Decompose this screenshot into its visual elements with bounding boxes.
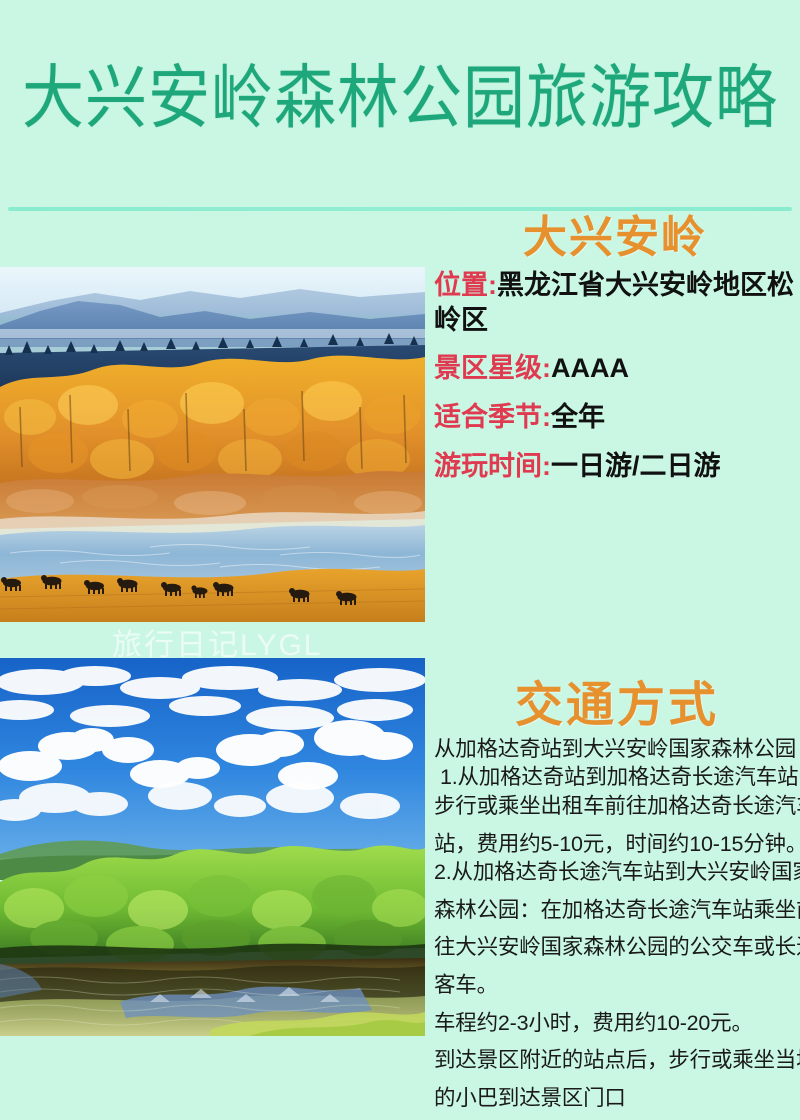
transport-line-3: 站，费用约5-10元，时间约10-15分钟。 xyxy=(434,830,800,859)
fact-duration-label: 游玩时间: xyxy=(434,451,551,481)
fact-star-rating-value: AAAA xyxy=(551,353,629,383)
transport-line-6: 往大兴安岭国家森林公园的公交车或长途 xyxy=(434,933,800,962)
transport-line-9: 到达景区附近的站点后，步行或乘坐当地 xyxy=(434,1046,800,1075)
fact-season: 适合季节:全年 xyxy=(434,400,796,435)
transport-info-column: 交通方式 从加格达奇站到大兴安岭国家森林公园 1.从加格达奇站到加格达奇长途汽车… xyxy=(434,664,800,1112)
transport-line-8: 车程约2-3小时，费用约10-20元。 xyxy=(434,1009,800,1038)
fact-location-label: 位置: xyxy=(434,270,497,300)
heading-destination: 大兴安岭 xyxy=(434,214,796,262)
photo-autumn-forest-river-cattle xyxy=(0,267,425,622)
transport-line-1: 1.从加格达奇站到加格达奇长途汽车站: xyxy=(434,763,800,792)
travel-guide-poster: 大兴安岭森林公园旅游攻略 xyxy=(0,0,800,1120)
page-title: 大兴安岭森林公园旅游攻略 xyxy=(22,64,778,137)
transport-intro: 从加格达奇站到大兴安岭国家森林公园 xyxy=(434,735,800,764)
transport-line-4: 2.从加格达奇长途汽车站到大兴安岭国家 xyxy=(434,858,800,887)
transport-line-10: 的小巴到达景区门口 xyxy=(434,1084,800,1113)
fact-location: 位置:黑龙江省大兴安岭地区松岭区 xyxy=(434,268,796,337)
fact-season-label: 适合季节: xyxy=(434,402,551,432)
heading-transport: 交通方式 xyxy=(434,680,800,733)
fact-duration-value: 一日游/二日游 xyxy=(551,451,721,481)
fact-star-rating: 景区星级:AAAA xyxy=(434,351,796,386)
fact-star-rating-label: 景区星级: xyxy=(434,353,551,383)
bottom-spacer xyxy=(0,1036,425,1120)
fact-season-value: 全年 xyxy=(551,402,605,432)
poster-title-band: 大兴安岭森林公园旅游攻略 xyxy=(0,0,800,200)
transport-line-5: 森林公园：在加格达奇长途汽车站乘坐前 xyxy=(434,896,800,925)
transport-line-2: 步行或乘坐出租车前往加格达奇长途汽车 xyxy=(434,792,800,821)
photo-summer-green-forest-river xyxy=(0,658,425,1036)
fact-duration: 游玩时间:一日游/二日游 xyxy=(434,449,796,484)
title-divider xyxy=(8,207,792,211)
destination-info-column: 大兴安岭 位置:黑龙江省大兴安岭地区松岭区 景区星级:AAAA 适合季节:全年 … xyxy=(434,214,796,497)
transport-line-7: 客车。 xyxy=(434,971,800,1000)
